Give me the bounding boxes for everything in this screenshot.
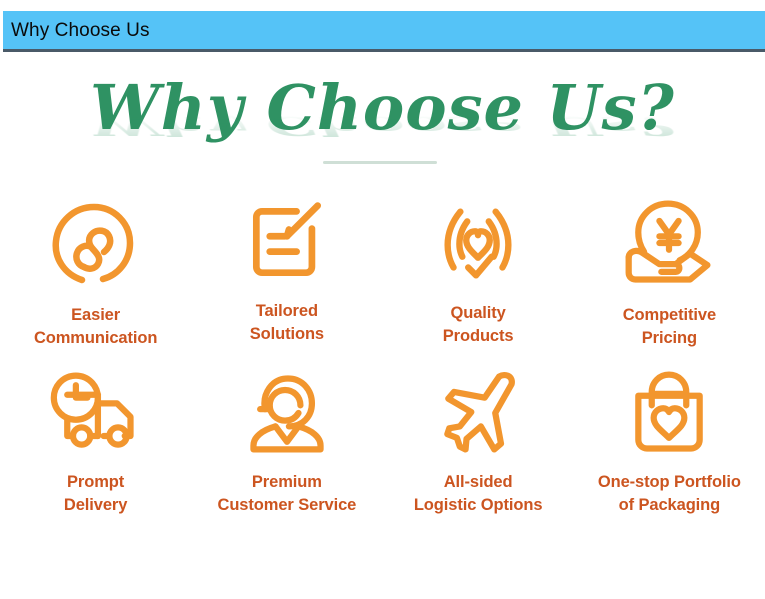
feature-item-competitive-pricing[interactable]: Competitive Pricing bbox=[574, 196, 765, 342]
page-title: Why Choose Us? bbox=[90, 77, 675, 139]
feature-label: All-sided Logistic Options bbox=[414, 471, 543, 517]
feature-grid: Easier Communication Tailored Solutions bbox=[0, 196, 765, 513]
document-pencil-icon bbox=[232, 196, 342, 288]
hero-section: Why Choose Us? Why Choose Us? bbox=[0, 58, 765, 158]
hero-title-wrap: Why Choose Us? Why Choose Us? bbox=[90, 77, 675, 139]
feature-item-all-sided-logistic-options[interactable]: All-sided Logistic Options bbox=[383, 367, 574, 513]
window-title: Why Choose Us bbox=[3, 21, 150, 40]
feature-label: Quality Products bbox=[443, 302, 514, 348]
delivery-truck-clock-icon bbox=[41, 367, 151, 459]
hand-holding-yen-coin-icon bbox=[614, 196, 724, 292]
feature-label: Prompt Delivery bbox=[64, 471, 127, 517]
headset-agent-icon bbox=[232, 367, 342, 459]
page-root: Why Choose Us Why Choose Us? Why Choose … bbox=[0, 0, 765, 599]
feature-item-tailored-solutions[interactable]: Tailored Solutions bbox=[191, 196, 382, 342]
feature-label: Competitive Pricing bbox=[623, 304, 716, 350]
window-titlebar: Why Choose Us bbox=[3, 11, 765, 52]
airplane-icon bbox=[423, 367, 533, 459]
feature-label: Tailored Solutions bbox=[250, 300, 324, 346]
heart-signal-check-icon bbox=[423, 196, 533, 290]
feature-item-premium-customer-service[interactable]: Premium Customer Service bbox=[191, 367, 382, 513]
feature-item-easier-communication[interactable]: Easier Communication bbox=[0, 196, 191, 342]
feature-item-one-stop-portfolio-of-packaging[interactable]: One-stop Portfolio of Packaging bbox=[574, 367, 765, 513]
feature-label: One-stop Portfolio of Packaging bbox=[598, 471, 741, 517]
feature-label: Easier Communication bbox=[34, 304, 157, 350]
shopping-bag-heart-icon bbox=[614, 367, 724, 459]
feature-label: Premium Customer Service bbox=[218, 471, 357, 517]
feature-item-quality-products[interactable]: Quality Products bbox=[383, 196, 574, 342]
feature-item-prompt-delivery[interactable]: Prompt Delivery bbox=[0, 367, 191, 513]
ear-in-circle-icon bbox=[41, 196, 151, 292]
title-divider bbox=[323, 161, 437, 164]
